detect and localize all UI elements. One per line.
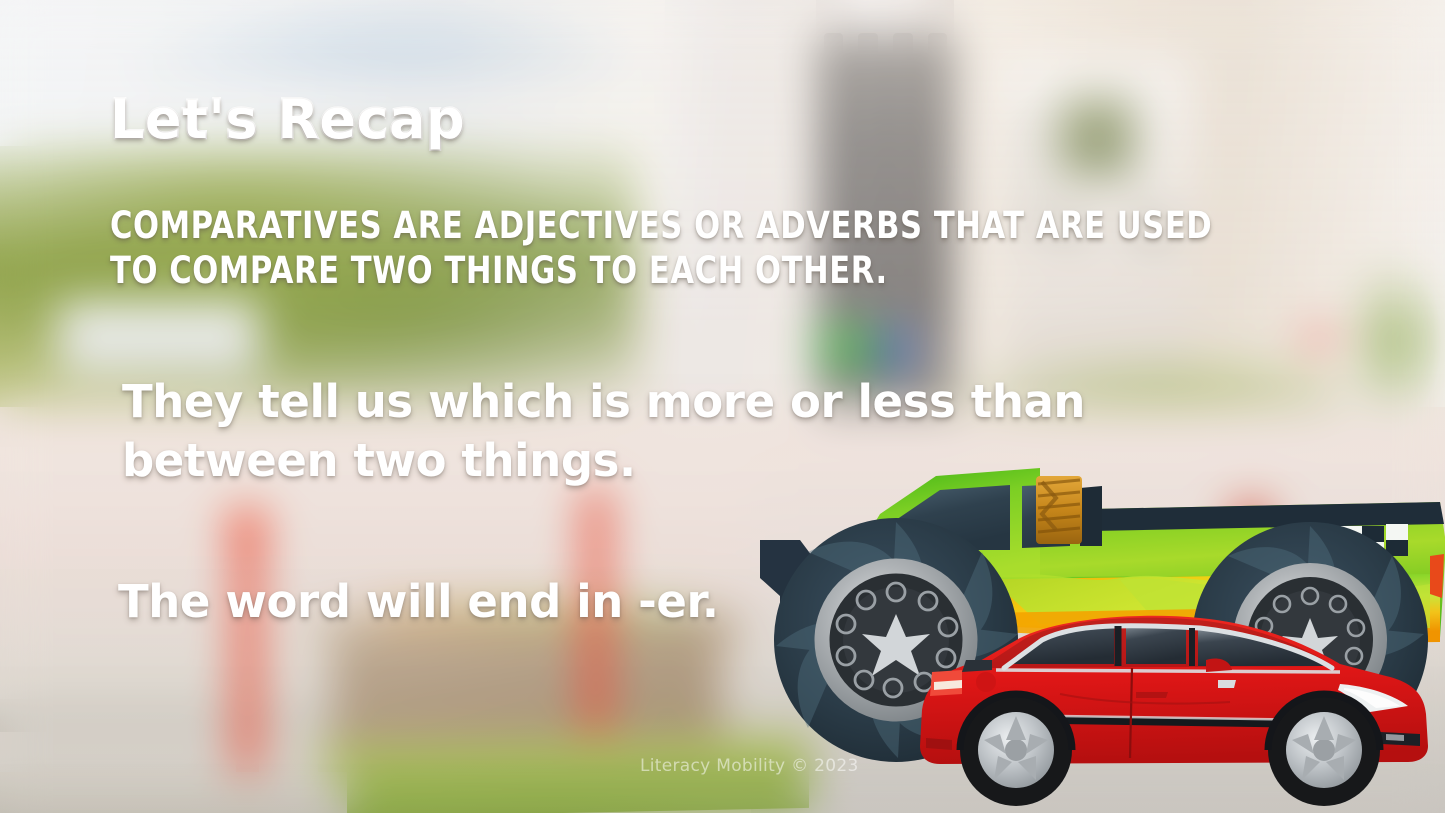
slide-text: Let's Recap Comparatives are adjectives …: [0, 0, 1445, 813]
explanation-paragraph: They tell us which is more or less than …: [122, 372, 1272, 491]
definition-paragraph: Comparatives are adjectives or adverbs t…: [110, 203, 1260, 293]
page-title: Let's Recap: [110, 88, 465, 151]
copyright-watermark: Literacy Mobility © 2023: [640, 756, 859, 776]
lesson-slide: Let's Recap Comparatives are adjectives …: [0, 0, 1445, 813]
rule-paragraph: The word will end in -er.: [118, 572, 738, 631]
